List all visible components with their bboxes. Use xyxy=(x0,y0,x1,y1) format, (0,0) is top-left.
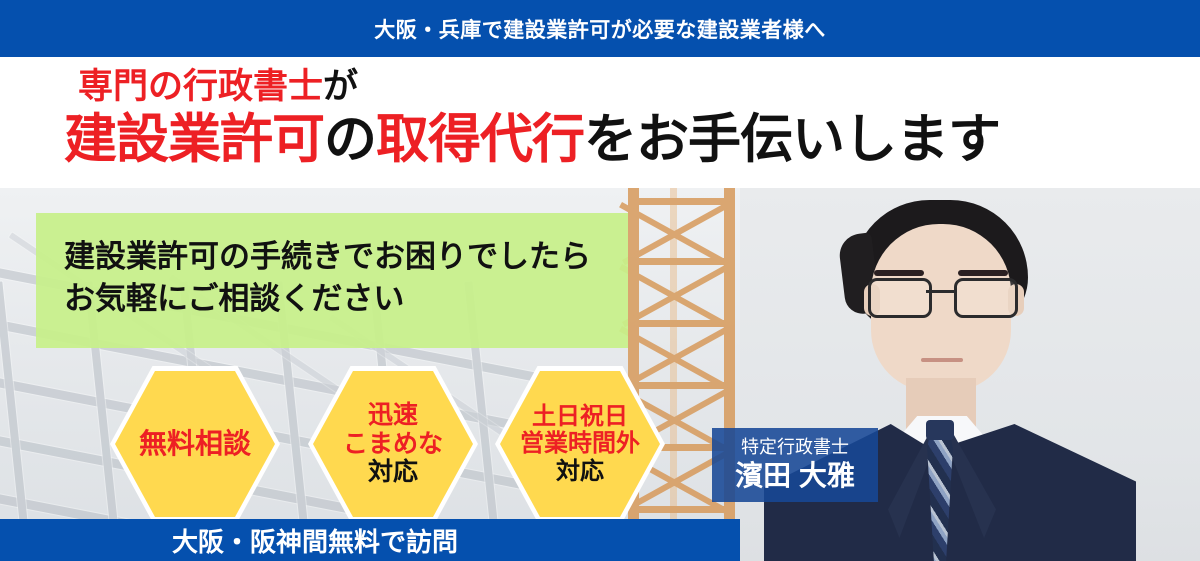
hex3-black-line-1: 対応 xyxy=(495,458,665,485)
portrait-photo xyxy=(740,188,1200,561)
hex2-black-line-1: 対応 xyxy=(308,458,478,487)
glasses-bridge xyxy=(926,290,954,293)
headline-line-2-red-1: 建設業許可 xyxy=(64,110,324,169)
headline-line-2-red-2: 取得代行 xyxy=(376,110,584,169)
glasses-icon xyxy=(866,278,1016,312)
headline-line-1-red: 専門の行政書士 xyxy=(78,67,323,106)
headline-line-2-black-2: をお手伝いします xyxy=(584,110,1000,169)
nameplate-role: 特定行政書士 xyxy=(741,438,849,458)
nameplate-name: 濱田 大雅 xyxy=(735,460,855,492)
green-message-panel: 建設業許可の手続きでお困りでしたら お気軽にご相談ください xyxy=(36,213,628,348)
hex2-red-line-1: 迅速 xyxy=(308,401,478,430)
hex1-red-line-1: 無料相談 xyxy=(110,428,280,460)
bottom-ribbon: 大阪・阪神間無料で訪問 xyxy=(0,519,740,561)
hex-badge-text: 迅速 こまめな 対応 xyxy=(308,401,478,487)
portrait-mouth xyxy=(921,358,963,362)
portrait-tie-knot xyxy=(926,420,954,440)
bottom-ribbon-text: 大阪・阪神間無料で訪問 xyxy=(172,522,458,559)
hex3-red-line-1: 土日祝日 xyxy=(495,403,665,430)
top-ribbon: 大阪・兵庫で建設業許可が必要な建設業者様へ xyxy=(0,0,1200,57)
portrait-eyebrow-right xyxy=(958,270,1008,276)
headline-line-2: 建設業許可の取得代行をお手伝いします xyxy=(64,113,1000,166)
glasses-lens-left xyxy=(868,278,932,318)
background-stage: 建設業許可の手続きでお困りでしたら お気軽にご相談ください 無料相談 迅速 こま… xyxy=(0,188,1200,561)
portrait-eyebrow-left xyxy=(874,270,924,276)
nameplate: 特定行政書士 濱田 大雅 xyxy=(712,428,878,502)
hero-banner: 大阪・兵庫で建設業許可が必要な建設業者様へ 専門の行政書士が 建設業許可の取得代… xyxy=(0,0,1200,561)
green-panel-line-2: お気軽にご相談ください xyxy=(64,279,404,320)
green-panel-line-1: 建設業許可の手続きでお困りでしたら xyxy=(64,237,591,278)
top-ribbon-text: 大阪・兵庫で建設業許可が必要な建設業者様へ xyxy=(374,14,826,44)
hex2-red-line-2: こまめな xyxy=(308,430,478,459)
headline-line-1-black: が xyxy=(323,67,358,106)
headline-line-1: 専門の行政書士が xyxy=(78,69,358,104)
hex3-red-line-2: 営業時間外 xyxy=(495,430,665,457)
hex-badge-text: 土日祝日 営業時間外 対応 xyxy=(495,403,665,485)
headline-band: 専門の行政書士が 建設業許可の取得代行をお手伝いします xyxy=(0,57,1200,188)
headline-line-2-black-1: の xyxy=(324,110,376,169)
glasses-lens-right xyxy=(954,278,1018,318)
hex-badge-text: 無料相談 xyxy=(110,428,280,460)
